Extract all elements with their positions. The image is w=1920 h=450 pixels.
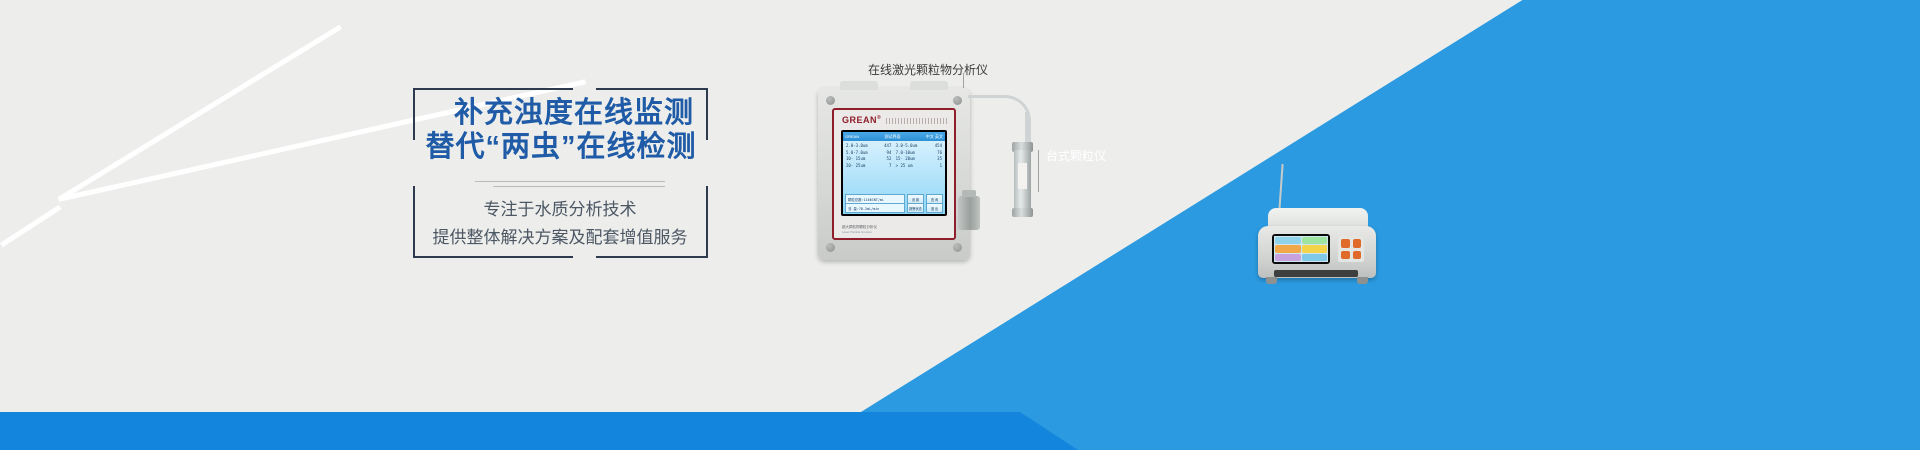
display-tile [1275, 245, 1301, 252]
benchtop-keypad[interactable] [1338, 236, 1364, 262]
table-row: 20- 25um 7 > 25 um 1 [846, 163, 942, 170]
subtitle-line-2: 提供整体解决方案及配套增值服务 [405, 224, 715, 252]
subtitle-line-1: 专注于水质分析技术 [405, 196, 715, 224]
table-row: 10- 15um 52 15- 20um 35 [846, 156, 942, 163]
callout-leader-line-2 [1038, 150, 1039, 192]
cell-range-b: > 25 um [892, 163, 927, 170]
benchtop-display[interactable] [1272, 234, 1330, 264]
display-viewport: GREAN 测试界面 中文 英文 2.0-3.0um 447 3.0-5.0um… [843, 132, 945, 214]
cell-range-b: 15- 20um [892, 156, 927, 163]
bracket-top-right-segment [596, 88, 708, 90]
exit-button[interactable]: 退 出 [926, 203, 943, 213]
analyzer-mount-tab-left [840, 81, 878, 90]
display-titlebar: GREAN 测试界面 中文 英文 [843, 132, 945, 141]
divider-line-lower [493, 186, 665, 187]
screw-icon [953, 96, 962, 105]
cell-range-a: 20- 25um [846, 163, 875, 170]
brand-logo-text: GREAN [842, 115, 877, 125]
display-status-area: 颗粒总数:1166CNT/mL 设 置 查 询 流 量:78.2mL/min 报… [843, 194, 945, 214]
table-row: 5.0-7.0um 94 7.0-10um 76 [846, 150, 942, 157]
display-tile [1275, 254, 1301, 261]
decor-hatch-strip [886, 118, 948, 124]
screw-icon [953, 243, 962, 252]
display-titlebar-center: 测试界面 [885, 134, 901, 140]
page-title: 补充浊度在线监测 替代“两虫”在线检测 [401, 96, 721, 164]
display-titlebar-right: 中文 英文 [926, 134, 943, 140]
cell-range-a: 2.0-3.0um [846, 143, 875, 150]
cell-count-b: 1 [927, 163, 942, 170]
probe-cap-bottom [1012, 208, 1033, 217]
display-tile [1302, 245, 1328, 252]
bracket-bottom-left-segment [413, 256, 573, 258]
screw-icon [826, 243, 835, 252]
benchtop-foot-right [1357, 277, 1368, 284]
benchtop-foot-left [1266, 277, 1277, 284]
analyzer-display[interactable]: GREAN 测试界面 中文 英文 2.0-3.0um 447 3.0-5.0um… [841, 130, 947, 216]
analyzer-model-caption-en: Laser Particle Counter [842, 230, 877, 235]
divider-line-upper [475, 181, 665, 182]
online-laser-particle-analyzer: GREAN® GREAN 测试界面 中文 英文 2.0-3.0um 447 3.… [818, 88, 970, 260]
cell-range-b: 3.0-5.0um [892, 143, 927, 150]
cell-count-b: 76 [927, 150, 942, 157]
benchtop-display-viewport [1274, 236, 1328, 262]
brand-logo: GREAN® [842, 115, 881, 125]
status-row: 流 量:78.2mL/min 报警状态 退 出 [845, 204, 943, 212]
screw-icon [826, 96, 835, 105]
keypad-button[interactable] [1341, 251, 1350, 260]
keypad-button[interactable] [1353, 239, 1362, 248]
flow-rate-readout: 流 量:78.2mL/min [845, 203, 905, 213]
bracket-bottom-right-segment [596, 256, 708, 258]
brand-registered-mark: ® [877, 115, 881, 121]
analyzer-side-connector [958, 196, 980, 230]
cell-count-b: 454 [927, 143, 942, 150]
cell-count-a: 94 [875, 150, 891, 157]
keypad-button[interactable] [1341, 239, 1350, 248]
display-titlebar-left: GREAN [845, 134, 859, 139]
probe-label-sticker [1018, 163, 1027, 189]
keypad-button[interactable] [1353, 251, 1362, 260]
cell-count-b: 35 [927, 156, 942, 163]
analyzer-front-panel: GREAN® GREAN 测试界面 中文 英文 2.0-3.0um 447 3.… [832, 108, 956, 240]
status-row: 颗粒总数:1166CNT/mL 设 置 查 询 [845, 195, 943, 203]
particle-count-table: 2.0-3.0um 447 3.0-5.0um 454 5.0-7.0um 94… [843, 141, 945, 194]
table-row: 2.0-3.0um 447 3.0-5.0um 454 [846, 143, 942, 150]
cell-count-a: 7 [875, 163, 891, 170]
benchtop-particle-counter [1258, 208, 1376, 290]
display-tile [1302, 254, 1328, 261]
display-tile [1302, 237, 1328, 244]
promo-banner: 补充浊度在线监测 替代“两虫”在线检测 专注于水质分析技术 提供整体解决方案及配… [0, 0, 1920, 450]
analyzer-model-caption: 超大颗粒物颗粒分析仪 Laser Particle Counter [842, 225, 877, 235]
analyzer-mount-tab-right [910, 81, 948, 90]
callout-label-laser-analyzer: 在线激光颗粒物分析仪 [868, 61, 988, 78]
callout-label-benchtop: 台式颗粒仪 [1046, 147, 1106, 164]
cell-range-a: 5.0-7.0um [846, 150, 875, 157]
bracket-top-left-segment [413, 88, 573, 90]
cell-count-a: 52 [875, 156, 891, 163]
display-tile [1275, 237, 1301, 244]
cell-count-a: 447 [875, 143, 891, 150]
headline-block: 补充浊度在线监测 替代“两虫”在线检测 专注于水质分析技术 提供整体解决方案及配… [413, 88, 708, 258]
benchtop-front-slot [1274, 270, 1358, 277]
headline-line-2: 替代“两虫”在线检测 [401, 130, 721, 164]
alarm-status-button[interactable]: 报警状态 [907, 203, 924, 213]
cell-range-b: 7.0-10um [892, 150, 927, 157]
headline-line-1: 补充浊度在线监测 [401, 96, 721, 130]
subtitle: 专注于水质分析技术 提供整体解决方案及配套增值服务 [405, 196, 715, 252]
cell-range-a: 10- 15um [846, 156, 875, 163]
